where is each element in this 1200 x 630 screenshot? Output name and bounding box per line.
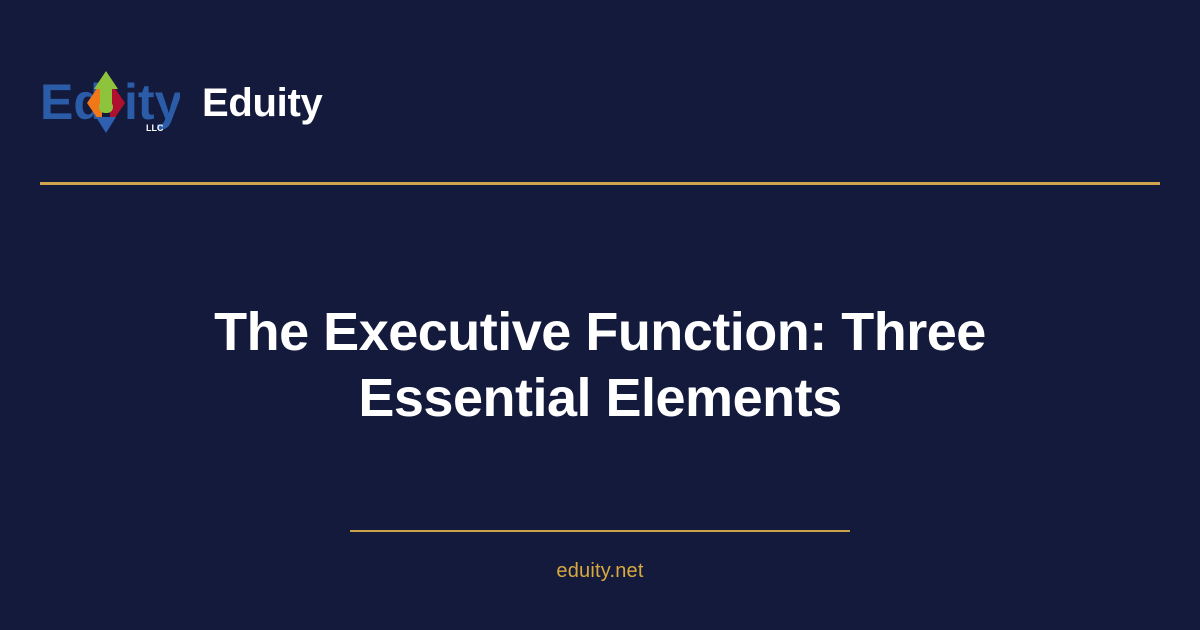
footer-divider <box>350 530 850 532</box>
brand-header: Ed ity LLC Eduity <box>40 62 322 144</box>
eduity-logo-mark[interactable]: Ed ity LLC <box>40 67 180 139</box>
brand-name: Eduity <box>202 83 322 123</box>
svg-text:LLC: LLC <box>146 123 164 133</box>
title-block: The Executive Function: Three Essential … <box>100 300 1100 432</box>
social-share-card: Ed ity LLC Eduity The Executive Function… <box>0 0 1200 630</box>
site-url[interactable]: eduity.net <box>556 560 643 583</box>
card-footer: eduity.net <box>0 530 1200 583</box>
page-title: The Executive Function: Three Essential … <box>100 300 1100 432</box>
svg-text:ity: ity <box>124 74 180 130</box>
header-divider <box>40 182 1160 185</box>
